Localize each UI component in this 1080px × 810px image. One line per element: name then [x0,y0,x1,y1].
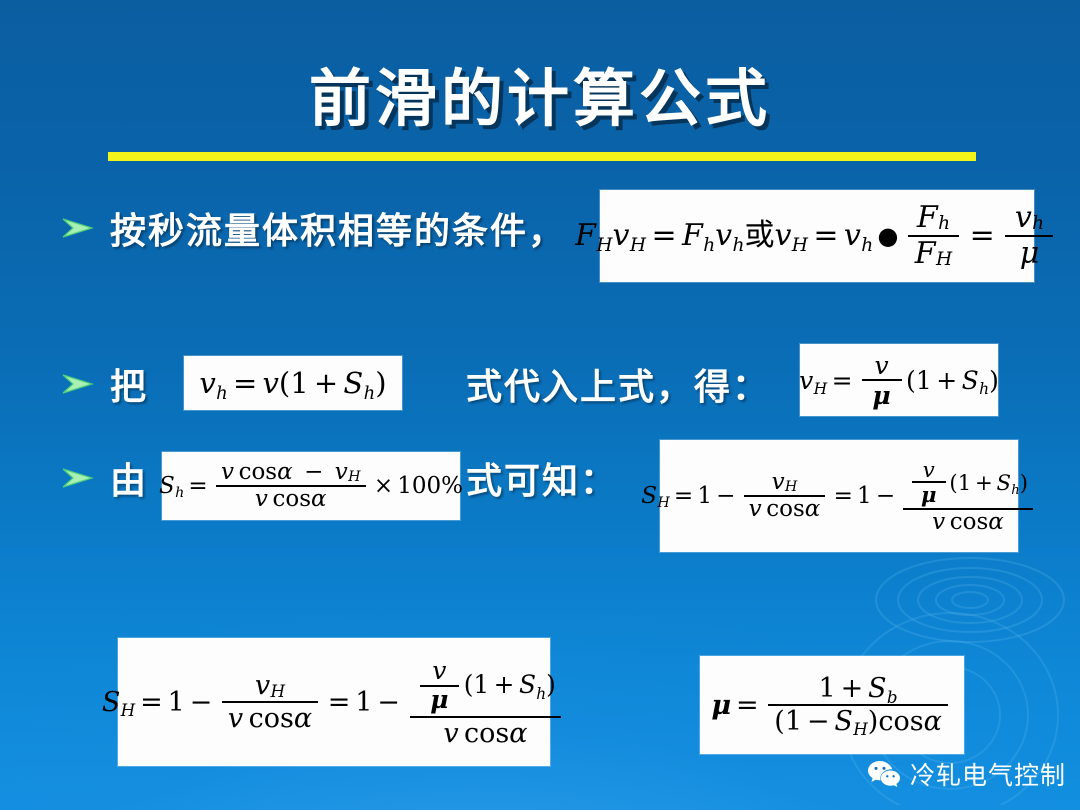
bullet-2-text-after: 式代入上式，得： [466,358,770,410]
title-underline-rule [108,152,976,161]
bullet-3-text-after: 式可知： [466,452,618,504]
bullet-1-text: 按秒流量体积相等的条件， [110,202,566,254]
bullet-row-2: 把 [62,358,148,410]
wechat-watermark: 冷轧电气控制 [867,756,1066,792]
formula-SH-derivation-large: SH =1− vH v cosα =1− v μ (1+Sh) v cosα [118,638,550,766]
bullet-row-2-tail: 式代入上式，得： [466,358,770,410]
bullet-row-3: 由 [62,452,148,504]
formula-mu: μ = 1+Sb (1−SH)cosα [700,656,964,754]
slide-canvas: 前滑的计算公式 按秒流量体积相等的条件， FHvH = Fhvh 或 vH = … [0,0,1080,810]
bullet-2-text-before: 把 [110,358,148,410]
formula-SH-derivation: SH =1− vH v cosα =1− v μ (1+Sh) v cosα [660,440,1018,552]
arrow-bullet-icon [62,371,96,397]
formula-vH-result: vH = v μ (1+Sh) [800,344,998,416]
arrow-bullet-icon [62,465,96,491]
bullet-3-text-before: 由 [110,452,148,504]
slide-title: 前滑的计算公式 [0,48,1080,138]
bullet-row-1: 按秒流量体积相等的条件， [62,202,566,254]
formula-flow-continuity: FHvH = Fhvh 或 vH = vh ● Fh FH = vh μ [600,190,1034,282]
arrow-bullet-icon [62,215,96,241]
formula-Sh-definition: Sh = v cosα − vH v cosα ×100% [162,452,460,520]
formula-vh-definition: vh = v (1+Sh) [184,356,402,410]
wechat-icon [867,759,901,789]
bullet-row-3-tail: 式可知： [466,452,618,504]
wechat-label: 冷轧电气控制 [910,756,1066,792]
